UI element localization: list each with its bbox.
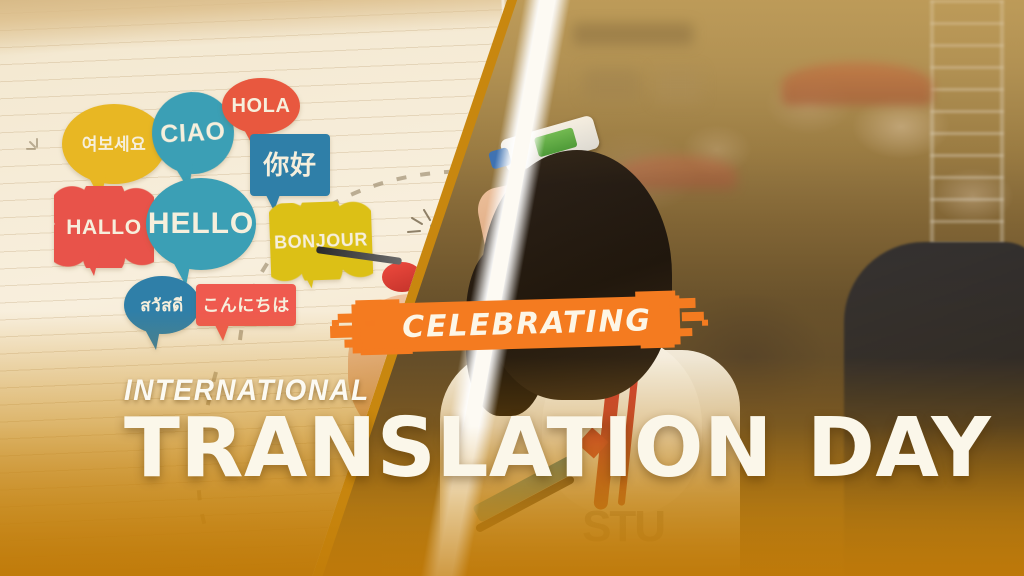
bubble-text-spanish: HOLA [231, 96, 290, 116]
bubble-text-english: HELLO [148, 209, 254, 239]
poster-canvas: 여보세요 CIAO HOLA 你好 HALLO HELLO BONJOUR สว… [0, 0, 1024, 576]
speech-bubble-german: HALLO [58, 192, 150, 262]
speech-bubble-spanish: HOLA [222, 78, 300, 134]
bubble-text-german: HALLO [66, 217, 141, 238]
brush-fleck-right-1 [702, 320, 708, 326]
speech-bubble-english: HELLO [146, 178, 256, 270]
bubble-text-korean: 여보세요 [82, 136, 147, 153]
speech-bubble-korean: 여보세요 [62, 104, 166, 184]
bubble-text-chinese: 你好 [263, 152, 317, 178]
banner-label-text: CELEBRATING [329, 290, 698, 358]
pencil-eraser [382, 262, 422, 292]
speech-bubble-chinese: 你好 [250, 134, 330, 196]
sparkle-mark-small-icon [24, 136, 50, 162]
celebrating-banner: CELEBRATING [329, 290, 698, 358]
bubble-text-italian: CIAO [160, 119, 227, 147]
